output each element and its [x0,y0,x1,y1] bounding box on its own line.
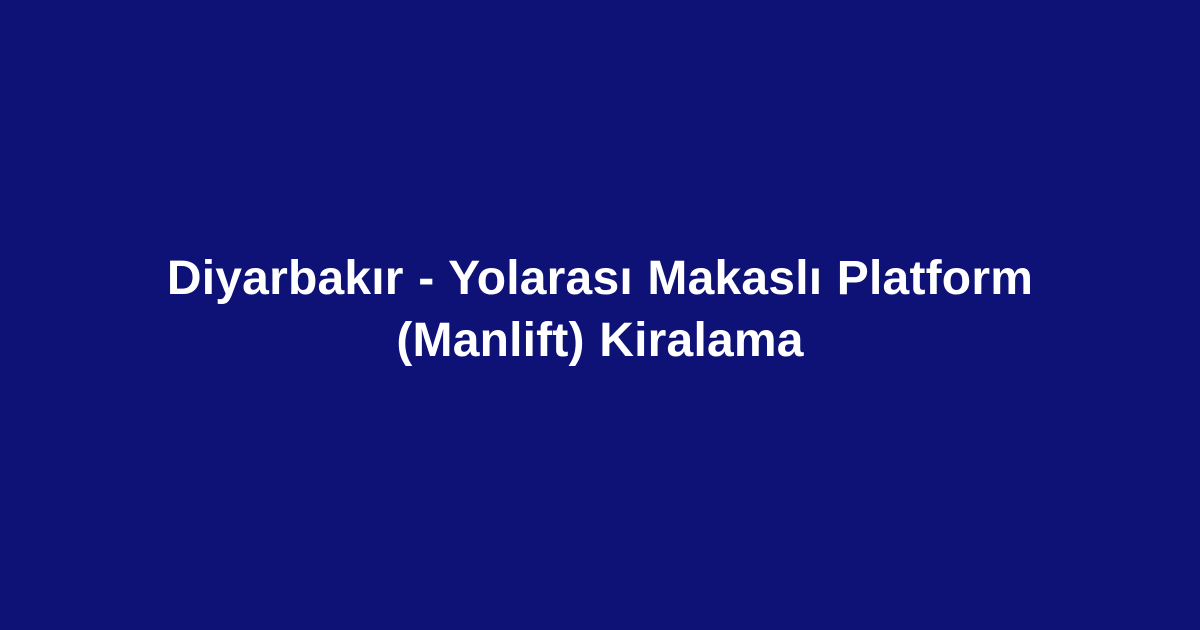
share-card: Diyarbakır - Yolarası Makaslı Platform (… [0,0,1200,630]
headline-block: Diyarbakır - Yolarası Makaslı Platform (… [0,248,1200,372]
page-title: Diyarbakır - Yolarası Makaslı Platform (… [100,248,1100,372]
